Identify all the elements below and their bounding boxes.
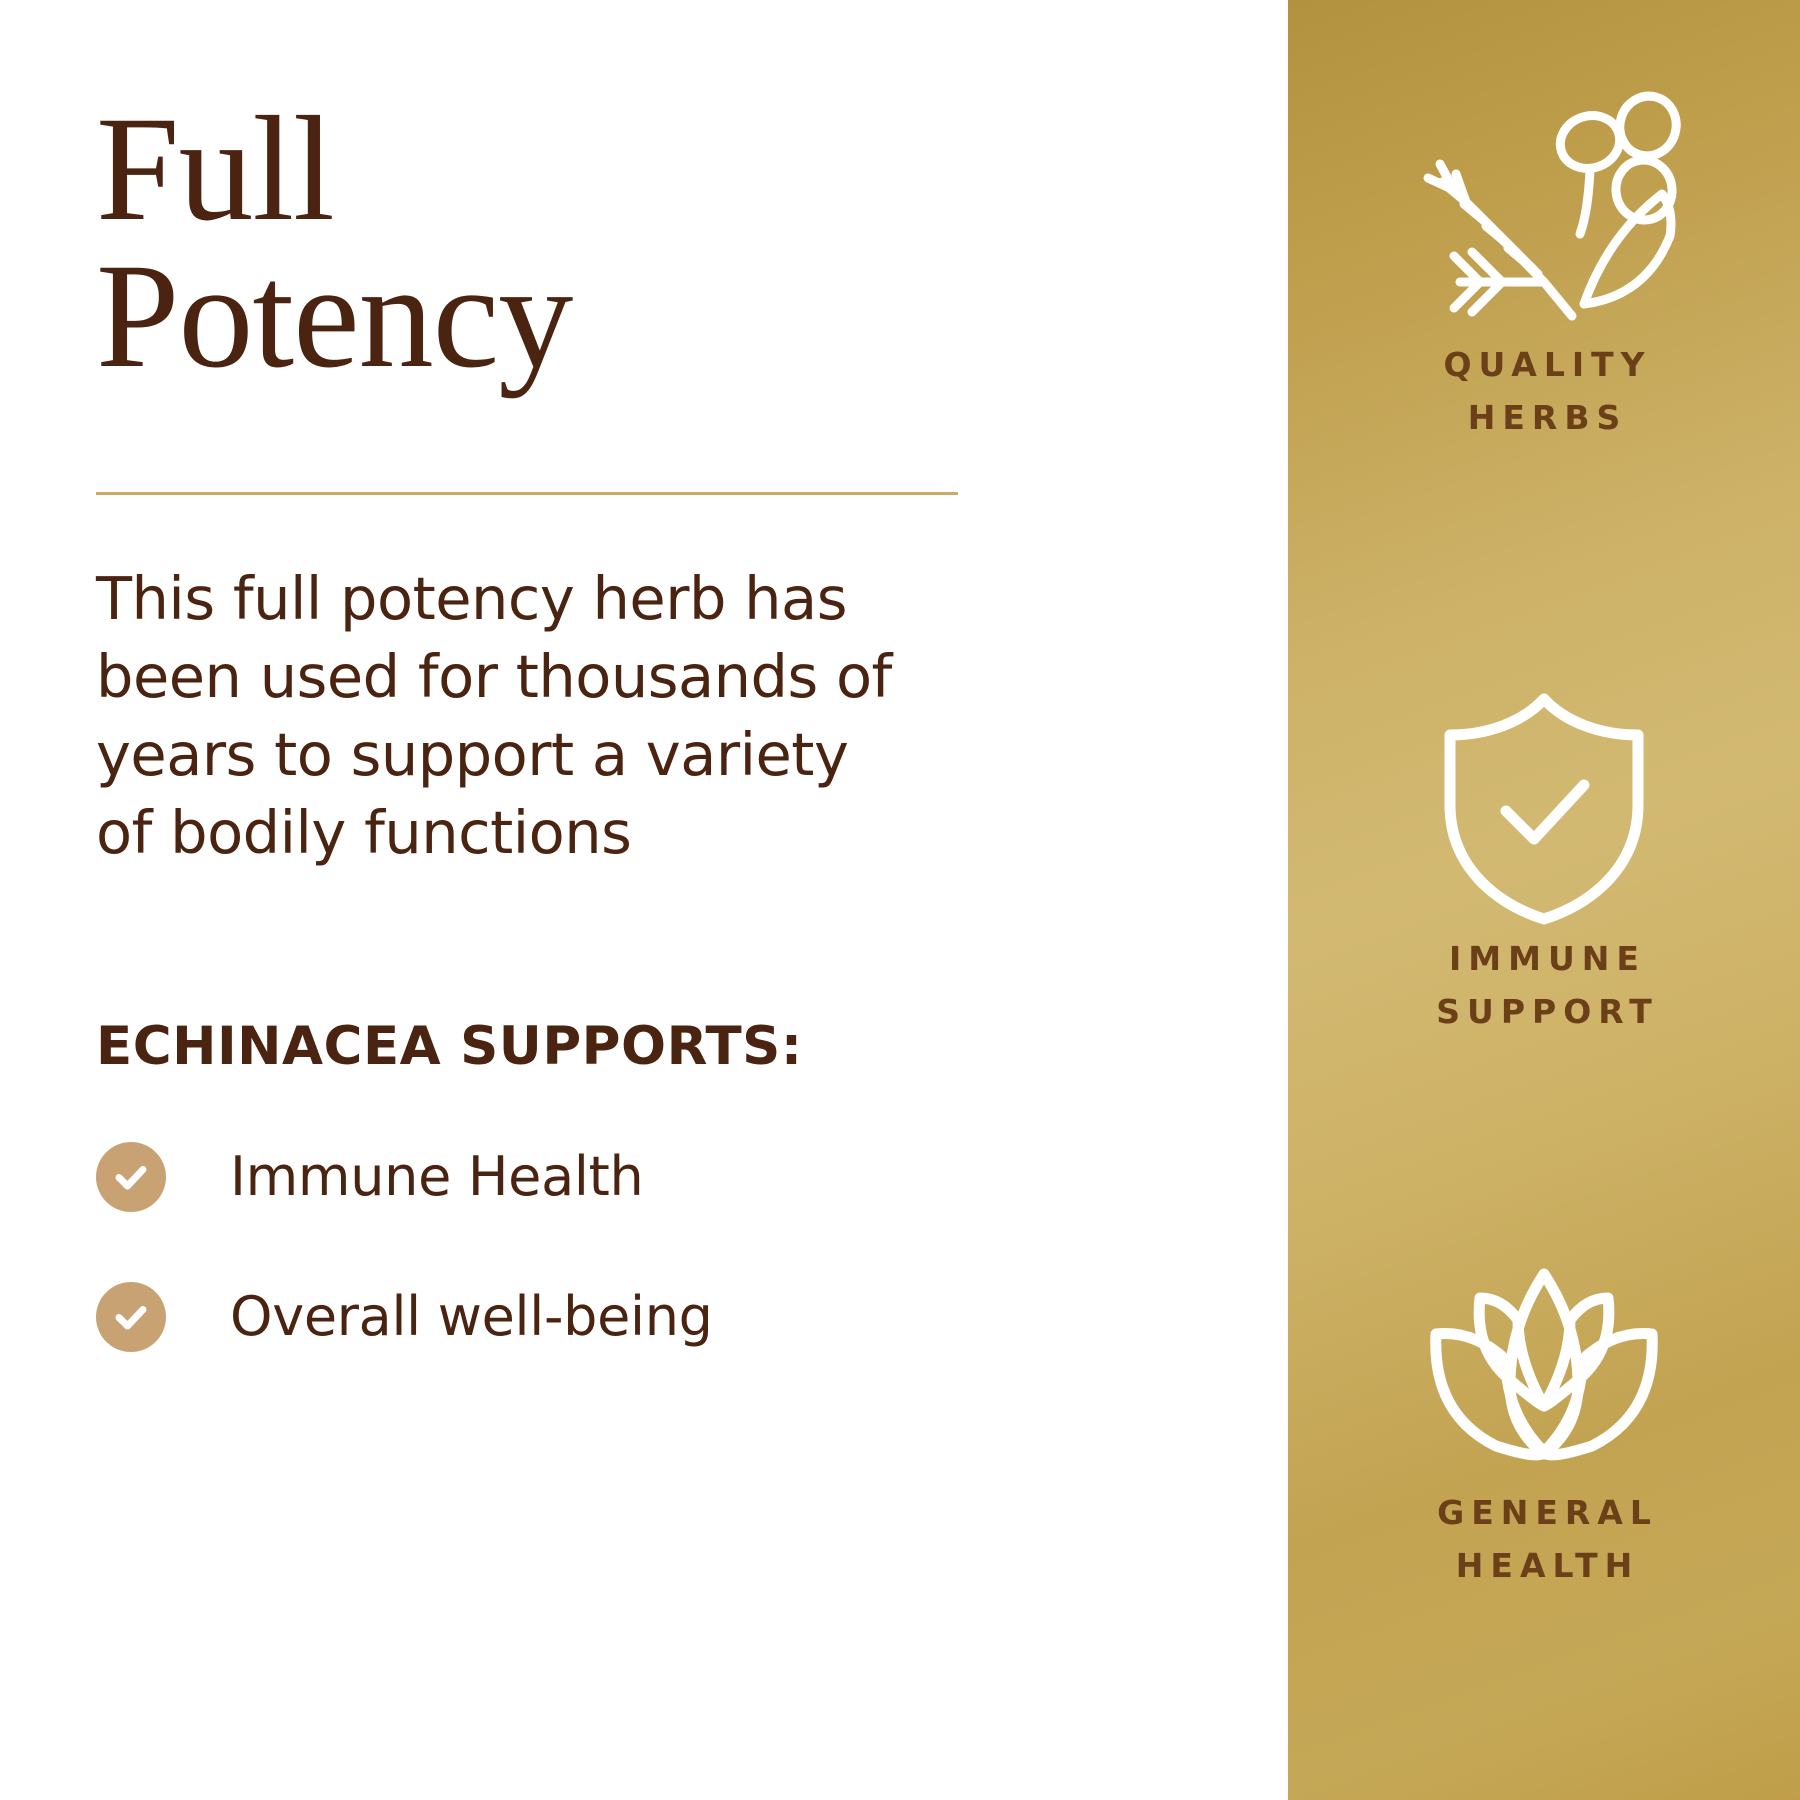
- page-title: Full Potency: [96, 96, 1096, 390]
- product-benefits-panel: Full Potency This full potency herb has …: [0, 0, 1800, 1800]
- benefits-list: Immune Health Overall well-being: [96, 1142, 996, 1422]
- feature-sidebar: QUALITY HERBS IMMUNE SUPPORT: [1288, 0, 1800, 1800]
- check-circle-icon: [96, 1282, 166, 1352]
- list-item: Immune Health: [96, 1142, 996, 1212]
- feature-caption: QUALITY HERBS: [1288, 338, 1800, 445]
- supports-heading: ECHINACEA SUPPORTS:: [96, 1016, 803, 1077]
- feature-general-health: GENERAL HEALTH: [1288, 1246, 1800, 1593]
- list-item-label: Immune Health: [230, 1150, 643, 1204]
- shield-check-icon: [1288, 682, 1800, 932]
- title-divider: [96, 492, 958, 495]
- feature-quality-herbs: QUALITY HERBS: [1288, 78, 1800, 445]
- check-circle-icon: [96, 1142, 166, 1212]
- body-description: This full potency herb has been used for…: [96, 560, 896, 872]
- feature-caption: GENERAL HEALTH: [1288, 1486, 1800, 1593]
- list-item-label: Overall well-being: [230, 1290, 713, 1344]
- lotus-flower-icon: [1288, 1246, 1800, 1486]
- feature-caption: IMMUNE SUPPORT: [1288, 932, 1800, 1039]
- list-item: Overall well-being: [96, 1282, 996, 1352]
- feature-immune-support: IMMUNE SUPPORT: [1288, 682, 1800, 1039]
- herb-sprig-icon: [1288, 78, 1800, 338]
- left-content-column: Full Potency This full potency herb has …: [0, 0, 1288, 1800]
